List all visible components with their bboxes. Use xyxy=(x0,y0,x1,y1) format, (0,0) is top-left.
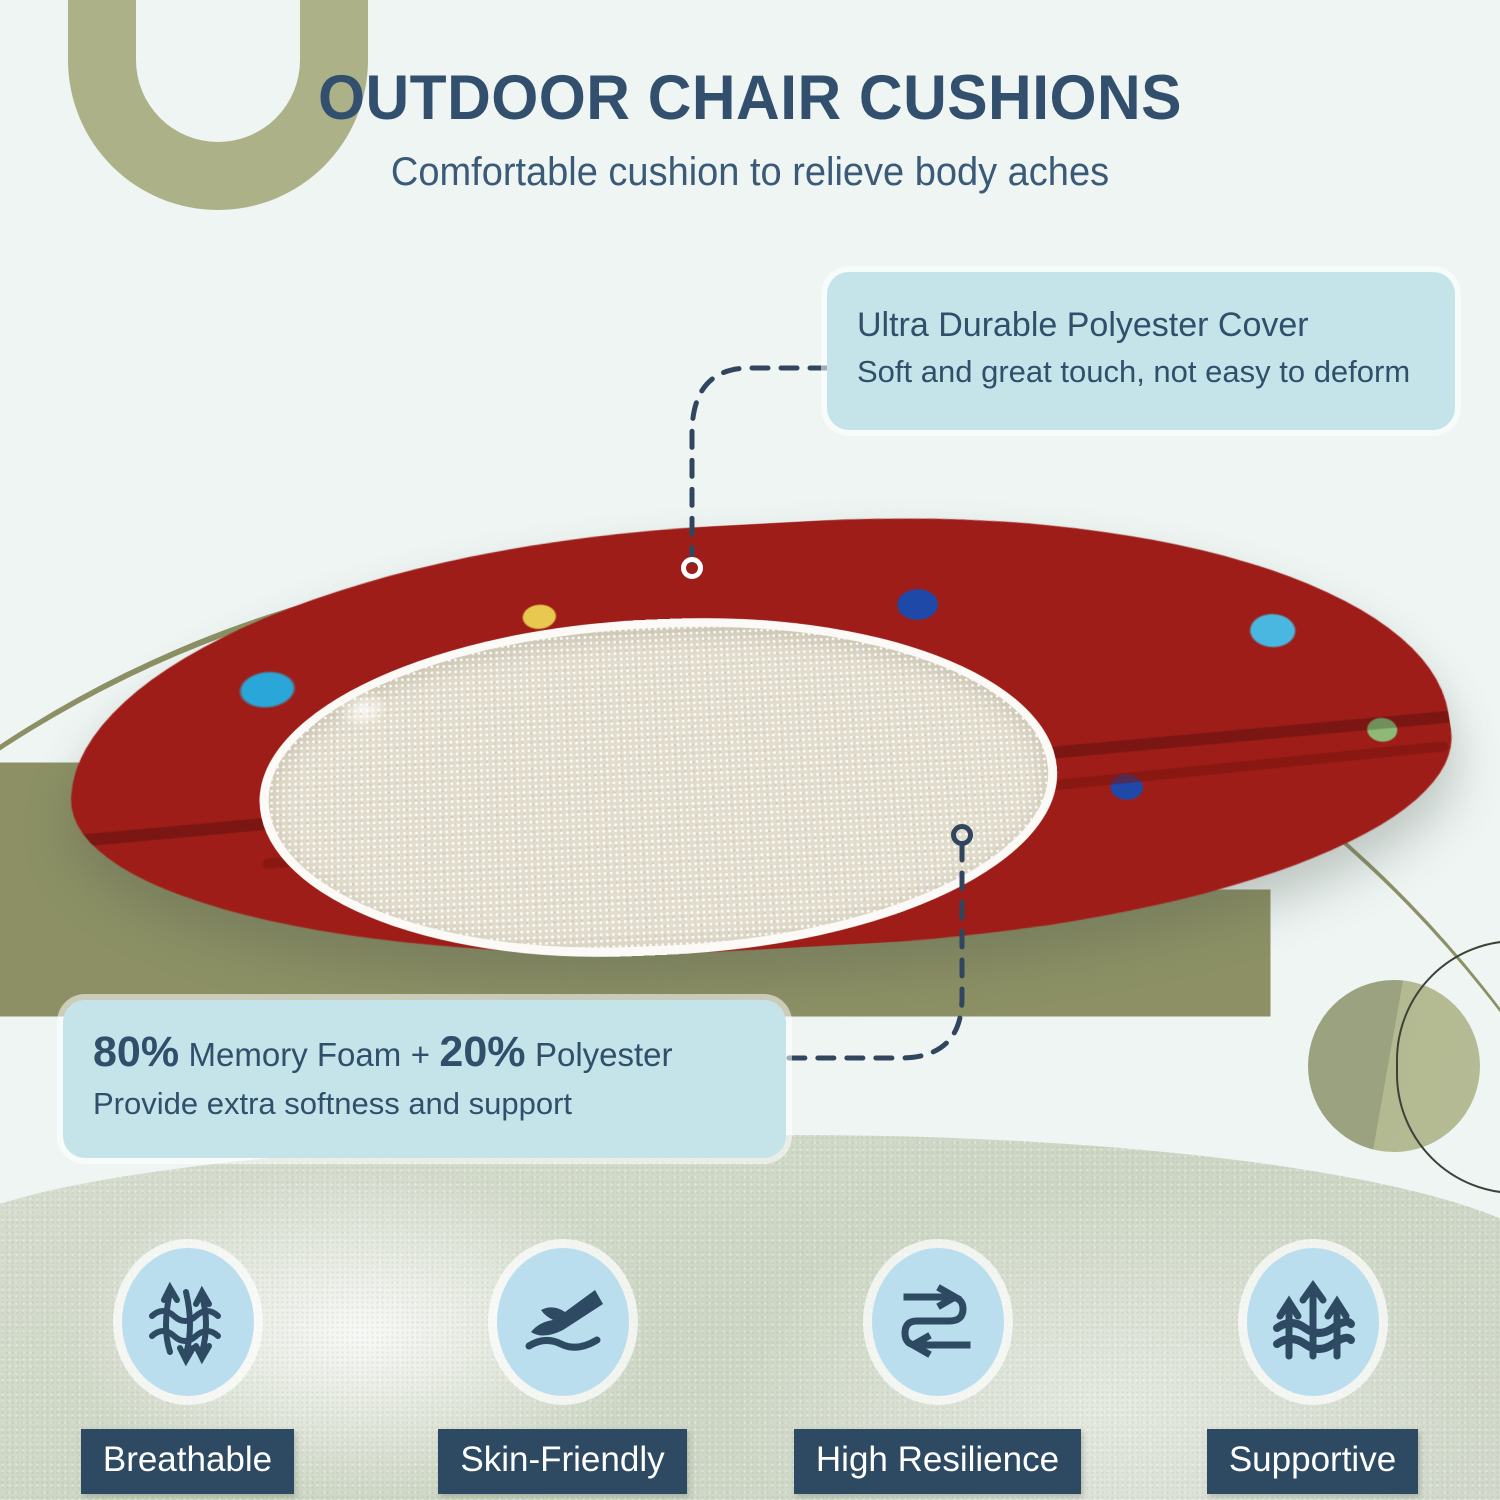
cover-marker-dot xyxy=(681,557,703,579)
hand-touch-icon xyxy=(497,1248,629,1396)
page-title: OUTDOOR CHAIR CUSHIONS xyxy=(30,62,1470,134)
page-subtitle: Comfortable cushion to relieve body ache… xyxy=(38,150,1463,195)
breathable-airflow-icon xyxy=(122,1248,254,1396)
plus-sign: + xyxy=(411,1036,430,1073)
feature-item-skin-friendly: Skin-Friendly xyxy=(375,1248,750,1498)
feature-label-high-resilience: High Resilience xyxy=(794,1429,1081,1494)
product-image xyxy=(55,495,1455,1015)
feature-label-skin-friendly: Skin-Friendly xyxy=(438,1429,686,1494)
upward-support-arrows-icon xyxy=(1247,1248,1379,1396)
feature-item-breathable: Breathable xyxy=(0,1248,375,1498)
callout-cover-body: Soft and great touch, not easy to deform xyxy=(857,352,1427,392)
polyester-percent: 20% xyxy=(439,1028,525,1076)
callout-cover: Ultra Durable Polyester Cover Soft and g… xyxy=(827,272,1455,430)
callout-fill: 80% Memory Foam + 20% Polyester Provide … xyxy=(63,1000,786,1158)
callout-cover-heading: Ultra Durable Polyester Cover xyxy=(857,306,1427,344)
callout-fill-heading: 80% Memory Foam + 20% Polyester xyxy=(93,1028,760,1076)
callout-fill-body: Provide extra softness and support xyxy=(93,1084,760,1124)
memory-foam-percent: 80% xyxy=(93,1028,179,1076)
feature-label-breathable: Breathable xyxy=(81,1429,294,1494)
foam-cutaway-window xyxy=(259,604,1071,973)
infographic-canvas: OUTDOOR CHAIR CUSHIONS Comfortable cushi… xyxy=(0,0,1500,1500)
fill-marker-dot xyxy=(951,824,973,846)
feature-item-supportive: Supportive xyxy=(1125,1248,1500,1498)
feature-strip: Breathable Skin-Friendly High Resilience xyxy=(0,1248,1500,1498)
memory-foam-label: Memory Foam xyxy=(189,1036,402,1073)
rebound-arrows-icon xyxy=(872,1248,1004,1396)
polyester-label: Polyester xyxy=(535,1036,673,1073)
feature-item-high-resilience: High Resilience xyxy=(750,1248,1125,1498)
feature-label-supportive: Supportive xyxy=(1207,1429,1418,1494)
